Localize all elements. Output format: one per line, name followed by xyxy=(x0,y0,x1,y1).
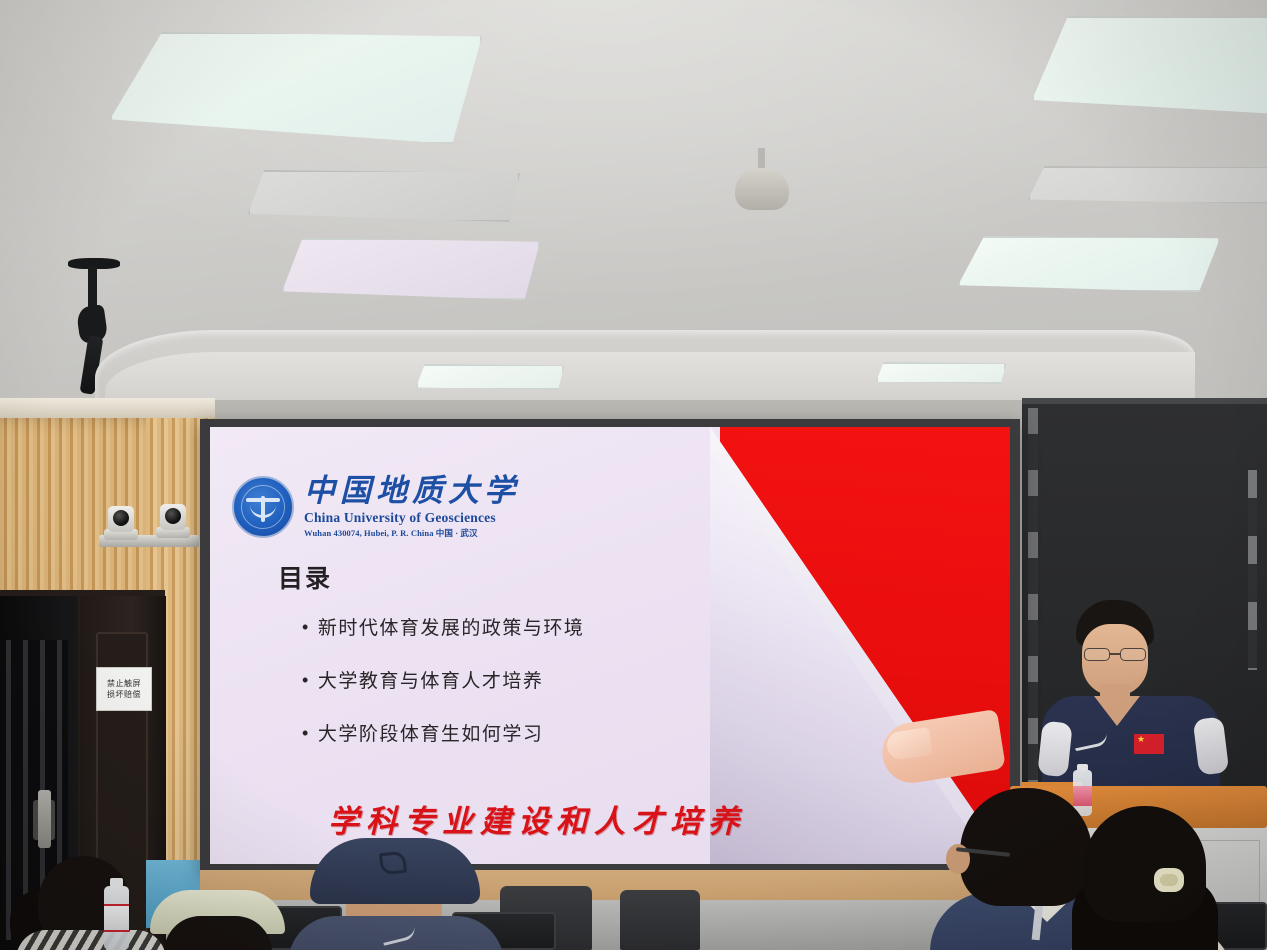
university-name-chinese: 中国地质大学 xyxy=(304,475,520,508)
glasses-lens-left xyxy=(1084,648,1110,661)
door-sign-line-1: 禁止触屏 xyxy=(107,680,141,688)
slide-logo-text: 中国地质大学 China University of Geosciences W… xyxy=(304,475,520,539)
emblem-hammer-mark xyxy=(246,492,280,522)
bottle-label xyxy=(104,904,129,932)
lecture-hall-photo: 禁止触屏 损坏赔偿 中国地质大学 China University of G xyxy=(0,0,1267,950)
led-panel xyxy=(1032,16,1267,116)
bullet-marker-icon: • xyxy=(302,724,310,742)
board-rail-left xyxy=(1028,408,1038,808)
slide-footer-title: 学科专业建设和人才培养 xyxy=(328,796,746,841)
attendee-navy-cap xyxy=(288,838,504,950)
cug-emblem-icon xyxy=(232,476,294,538)
projection-screen[interactable]: 中国地质大学 China University of Geosciences W… xyxy=(210,427,1010,864)
hair-clip-accessory xyxy=(1154,868,1184,892)
slide-fingernail xyxy=(885,727,933,762)
attendee-striped-top xyxy=(16,930,166,950)
university-name-english: China University of Geosciences xyxy=(304,510,520,526)
glasses-bridge xyxy=(1110,653,1120,655)
led-panel xyxy=(282,238,540,300)
slide-bullet-item: • 大学阶段体育生如何学习 xyxy=(302,719,722,746)
door-handle[interactable] xyxy=(38,790,51,848)
ptz-camera-right xyxy=(156,498,190,538)
board-rail-right xyxy=(1248,470,1257,670)
presenter-sleeve-right xyxy=(1193,716,1230,775)
slide-bullet-list: • 新时代体育发展的政策与环境 • 大学教育与体育人才培养 • 大学阶段体育生如… xyxy=(302,613,722,746)
bullet-marker-icon: • xyxy=(302,671,310,689)
door-notice-sign: 禁止触屏 损坏赔偿 xyxy=(96,667,152,711)
water-bottle xyxy=(104,878,129,950)
slide-heading: 目录 xyxy=(278,559,332,595)
slide-bullet-item: • 大学教育与体育人才培养 xyxy=(302,666,722,693)
bullet-text: 大学阶段体育生如何学习 xyxy=(318,719,544,746)
led-panel xyxy=(416,364,564,390)
ptz-camera-left xyxy=(104,500,138,540)
presenter-glasses xyxy=(1082,648,1148,661)
china-flag-patch-icon xyxy=(1134,734,1164,754)
smoke-detector xyxy=(735,148,789,210)
air-vent xyxy=(1028,166,1267,204)
bullet-text: 新时代体育发展的政策与环境 xyxy=(318,613,585,640)
air-vent xyxy=(248,170,520,222)
slide-logo: 中国地质大学 China University of Geosciences W… xyxy=(232,475,520,539)
attendee-woman-ponytail xyxy=(10,856,160,950)
bullet-marker-icon: • xyxy=(302,618,310,636)
chair xyxy=(620,890,700,950)
emblem-arc xyxy=(250,504,276,518)
led-panel xyxy=(876,362,1006,384)
bullet-text: 大学教育与体育人才培养 xyxy=(318,666,544,693)
slide-bullet-item: • 新时代体育发展的政策与环境 xyxy=(302,613,722,640)
attendee-headband xyxy=(150,890,285,950)
attendee-girl-hairclip xyxy=(1066,806,1226,950)
bottle-cap xyxy=(110,878,123,887)
smoke-detector-head xyxy=(735,168,789,210)
camera-lens-icon xyxy=(113,510,129,526)
led-panel xyxy=(958,236,1220,292)
attendee-head xyxy=(1084,806,1206,922)
university-address: Wuhan 430074, Hubei, P. R. China 中国 · 武汉 xyxy=(304,527,520,539)
door-sign-line-2: 损坏赔偿 xyxy=(107,691,141,699)
wood-wall-ledge xyxy=(0,398,215,420)
glasses-lens-right xyxy=(1120,648,1146,661)
presenter-sleeve-left xyxy=(1037,721,1072,778)
camera-lens-icon xyxy=(165,508,181,524)
bottle-cap xyxy=(1077,764,1088,771)
